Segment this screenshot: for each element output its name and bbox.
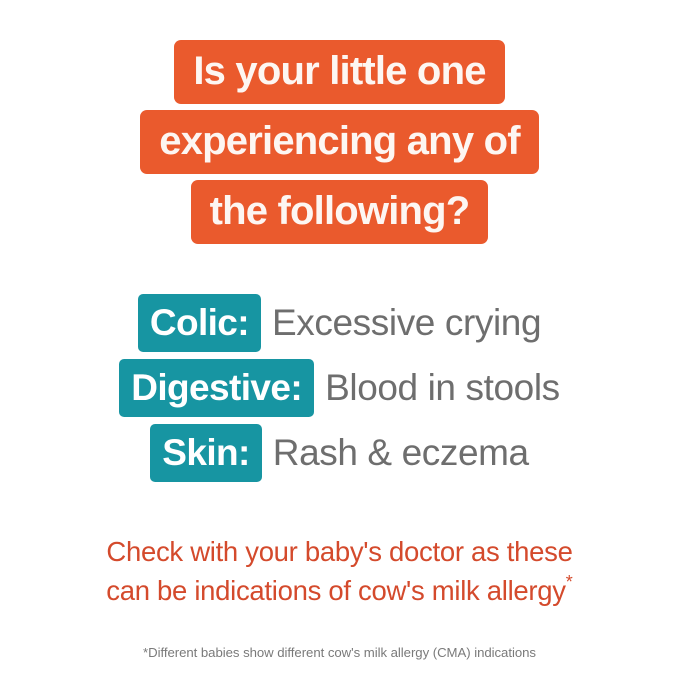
symptom-row-colic: Colic: Excessive crying bbox=[138, 294, 541, 352]
symptom-badge-skin: Skin: bbox=[150, 424, 261, 482]
symptom-badge-colic: Colic: bbox=[138, 294, 261, 352]
headline-line-2: experiencing any of bbox=[140, 110, 538, 174]
cta-line-1: Check with your baby's doctor as these bbox=[0, 534, 679, 571]
symptom-description-colic: Excessive crying bbox=[261, 294, 541, 352]
headline-block: Is your little one experiencing any of t… bbox=[0, 40, 679, 244]
cta-asterisk-marker: * bbox=[566, 572, 573, 592]
footnote-text: *Different babies show different cow's m… bbox=[0, 645, 679, 661]
symptom-badge-digestive: Digestive: bbox=[119, 359, 314, 417]
symptom-row-skin: Skin: Rash & eczema bbox=[150, 424, 528, 482]
call-to-action: Check with your baby's doctor as these c… bbox=[0, 534, 679, 609]
symptom-row-digestive: Digestive: Blood in stools bbox=[119, 359, 560, 417]
symptom-description-skin: Rash & eczema bbox=[262, 424, 529, 482]
symptom-list: Colic: Excessive crying Digestive: Blood… bbox=[0, 294, 679, 482]
cta-line-2: can be indications of cow's milk allergy bbox=[106, 575, 565, 606]
symptom-description-digestive: Blood in stools bbox=[314, 359, 560, 417]
headline-line-3: the following? bbox=[191, 180, 489, 244]
headline-line-1: Is your little one bbox=[174, 40, 504, 104]
promo-poster: Is your little one experiencing any of t… bbox=[0, 0, 679, 679]
cta-line-2-wrapper: can be indications of cow's milk allergy… bbox=[0, 571, 679, 610]
